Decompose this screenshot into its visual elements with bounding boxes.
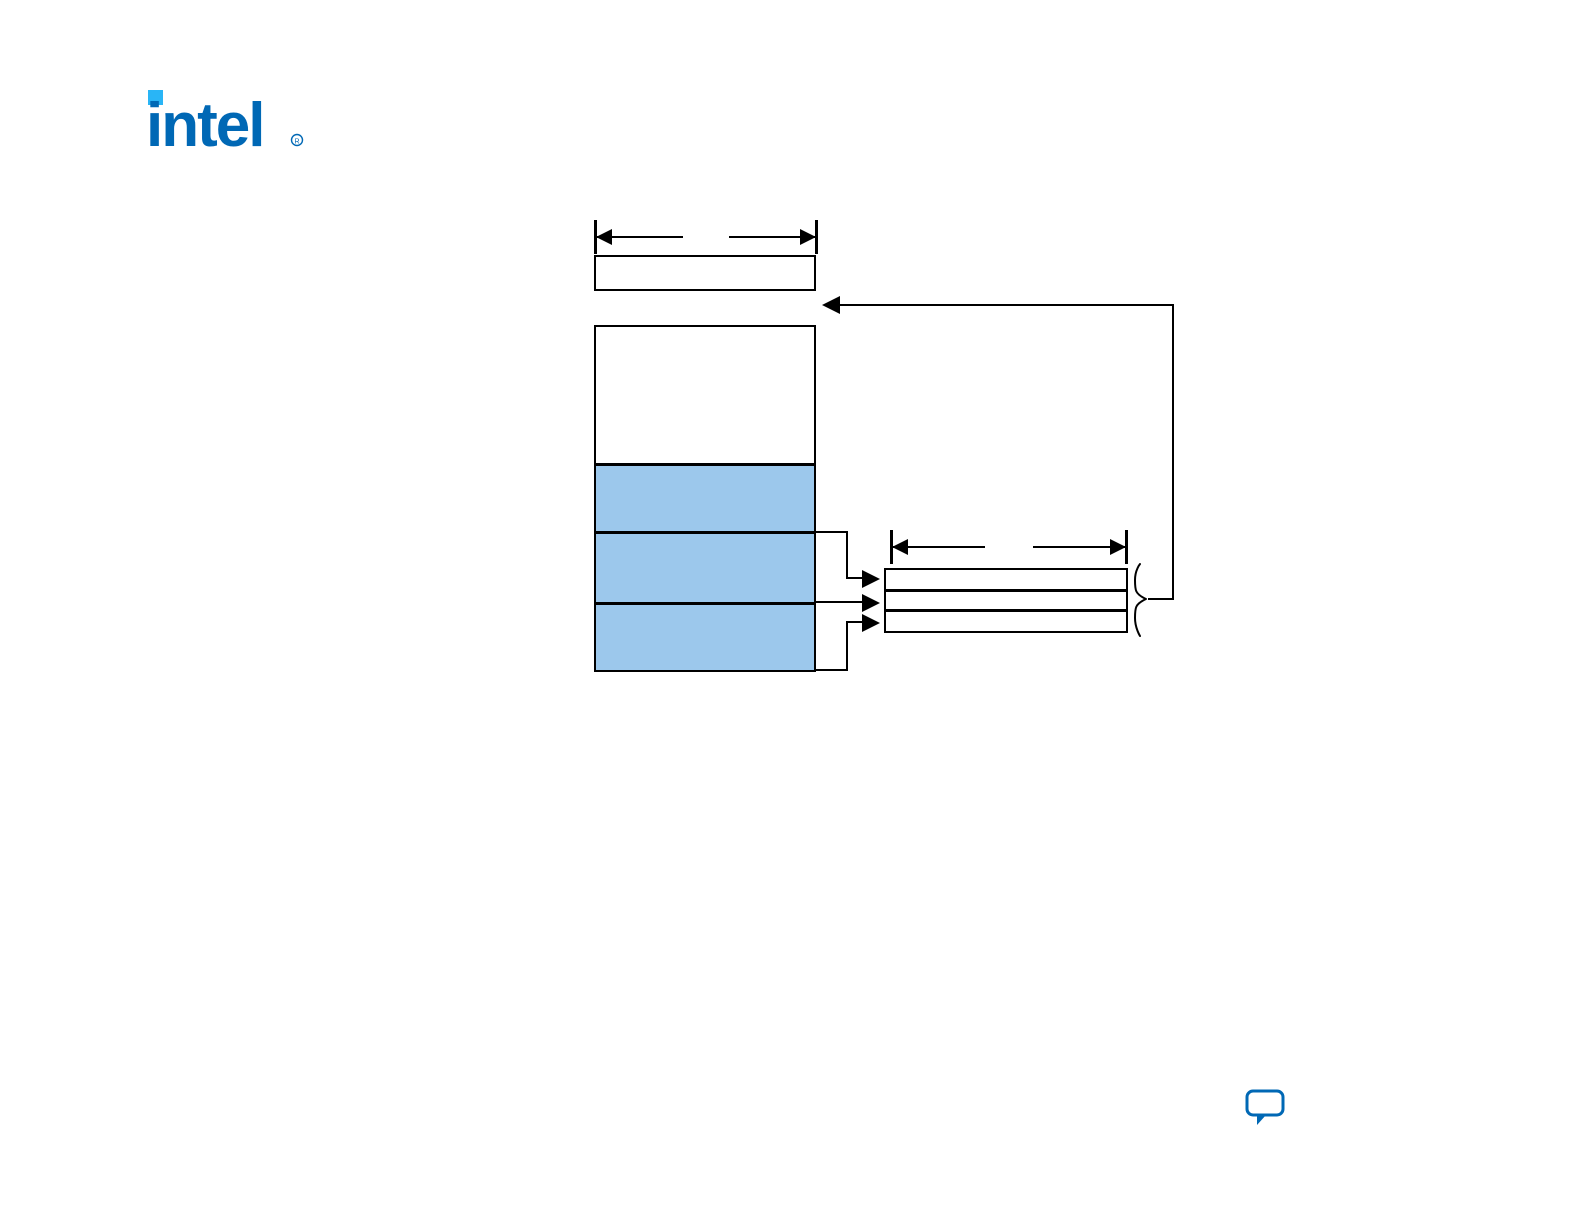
connector-row-3-seg-v [846, 621, 848, 671]
main-row-blue-1 [594, 464, 816, 533]
return-arrow-riser [1172, 304, 1174, 600]
top-width-dimension [594, 220, 818, 256]
connector-row-3-arrowhead [862, 614, 880, 632]
connector-row-1-seg-h1 [816, 531, 848, 533]
main-row-blue-3 [594, 603, 816, 672]
detail-row-1 [884, 568, 1128, 591]
connector-row-2-seg-h [816, 601, 864, 603]
dimension-arrowhead-left [596, 229, 612, 245]
connector-row-1-arrowhead [862, 570, 880, 588]
main-row-blue-2 [594, 532, 816, 604]
grouping-brace [1132, 562, 1158, 638]
svg-text:intel: intel [146, 91, 263, 150]
top-descriptor-box [594, 255, 816, 291]
connector-row-1-seg-v [846, 531, 848, 579]
feedback-bubble-icon[interactable] [1244, 1088, 1286, 1128]
intel-logo: intel R [146, 88, 306, 150]
detail-row-2 [884, 590, 1128, 611]
detail-width-dimension [890, 530, 1128, 566]
page-canvas: intel R [0, 0, 1584, 1224]
detail-row-3 [884, 610, 1128, 633]
dimension-arrowhead-right [800, 229, 816, 245]
main-row-white [594, 325, 816, 465]
connector-row-3-seg-h1 [816, 669, 848, 671]
return-arrow-shaft [840, 304, 1174, 306]
svg-text:R: R [294, 139, 299, 146]
connector-row-2-arrowhead [862, 594, 880, 612]
detail-dimension-arrowhead-right [1110, 539, 1126, 555]
return-arrow-head [822, 296, 840, 314]
detail-dimension-arrowhead-left [892, 539, 908, 555]
